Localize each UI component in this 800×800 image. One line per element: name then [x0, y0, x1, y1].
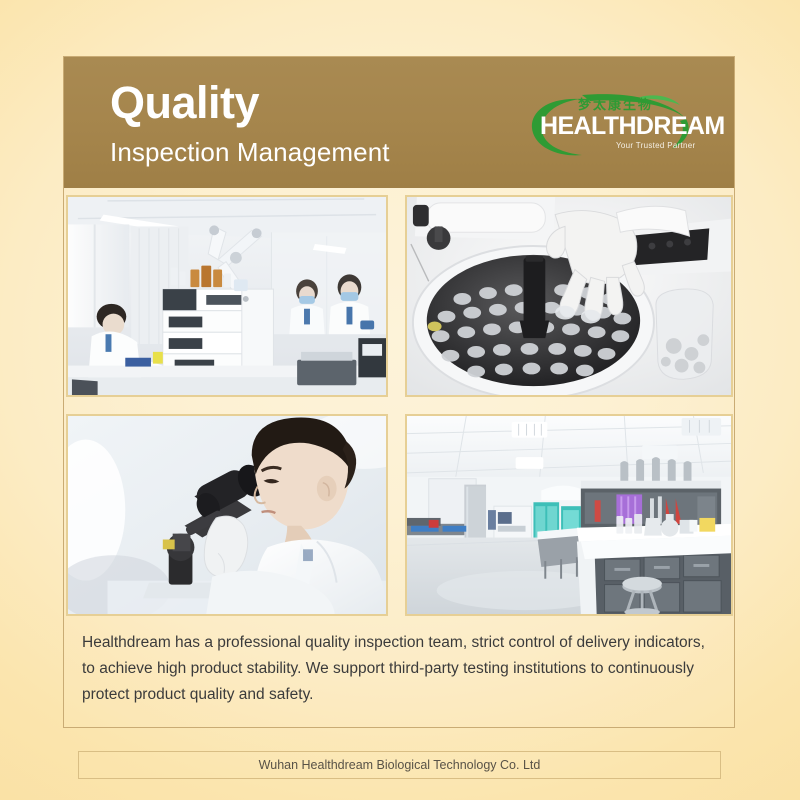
- gallery-photo-chromatography-lab: [66, 195, 388, 397]
- page-header: Quality Inspection Management 梦太康生物 HEAL…: [64, 57, 734, 188]
- header-title-block: Quality Inspection Management: [110, 79, 390, 167]
- company-logo: 梦太康生物 HEALTHDREAM Your Trusted Partner: [520, 87, 710, 165]
- photo-4-image: [407, 416, 731, 614]
- gallery-photo-microscope-scientist: [66, 414, 388, 616]
- page-title: Quality: [110, 79, 390, 126]
- photo-3-image: [68, 416, 386, 614]
- company-footer-bar: Wuhan Healthdream Biological Technology …: [78, 751, 721, 779]
- photo-1-image: [68, 197, 386, 395]
- logo-chinese-name: 梦太康生物: [578, 94, 653, 113]
- logo-brand-name: HEALTHDREAM: [540, 112, 725, 141]
- description-paragraph: Healthdream has a professional quality i…: [82, 630, 722, 708]
- gallery-photo-autosampler-vials: [405, 195, 733, 397]
- photo-gallery: [66, 195, 733, 616]
- gallery-photo-laboratory-interior: [405, 414, 733, 616]
- photo-2-image: [407, 197, 731, 395]
- page-subtitle: Inspection Management: [110, 138, 390, 167]
- logo-tagline: Your Trusted Partner: [616, 141, 696, 150]
- company-name-label: Wuhan Healthdream Biological Technology …: [259, 758, 541, 772]
